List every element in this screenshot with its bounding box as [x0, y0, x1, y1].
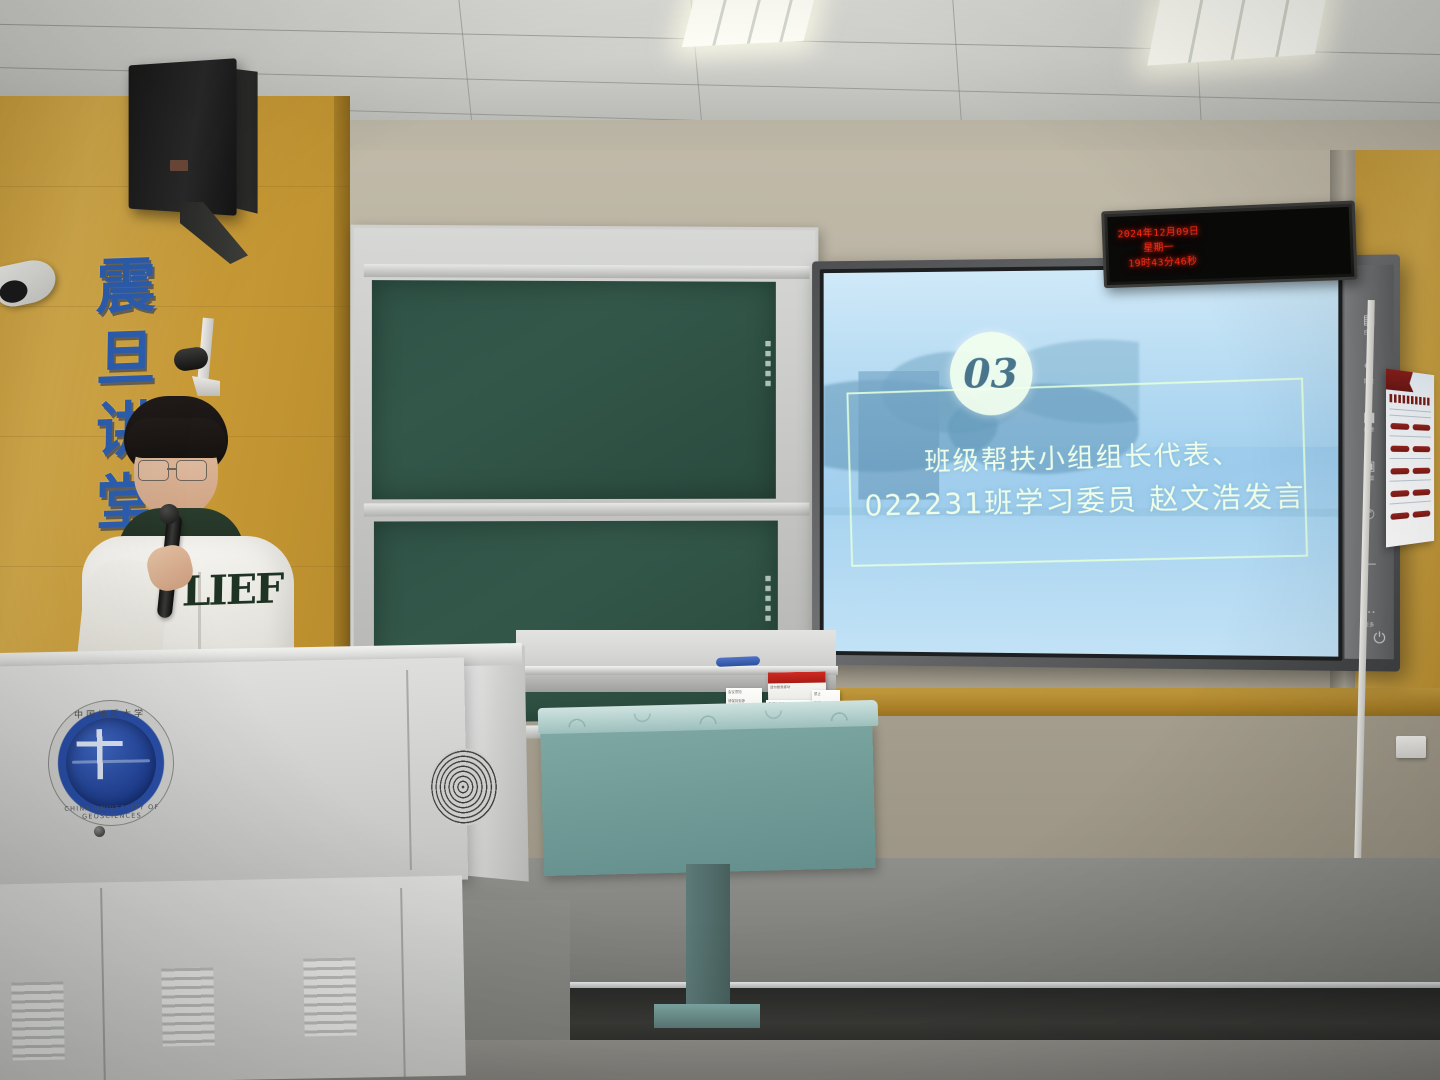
presentation-slide: 03 班级帮扶小组组长代表、 022231班学习委员 赵文浩发言: [824, 267, 1339, 656]
cabinet-vent: [161, 968, 214, 1047]
glasses-left-lens: [138, 460, 169, 481]
ceiling-light-panel: [682, 0, 818, 47]
wall-mounted-loudspeaker: [124, 62, 236, 212]
stand-front-panel: [540, 722, 875, 876]
stand-support-column: [686, 864, 730, 1014]
calligraphy-char-1: 震: [96, 257, 157, 317]
display-bezel: 03 班级帮扶小组组长代表、 022231班学习委员 赵文浩发言: [820, 263, 1343, 661]
led-date-time-display: 2024年12月09日 星期一 19时43分46秒: [1101, 200, 1357, 288]
blue-marker[interactable]: [716, 656, 760, 667]
wall-poster: [1386, 369, 1434, 548]
cabinet-vent: [303, 958, 356, 1037]
poster-title-band: [1390, 394, 1431, 406]
power-icon[interactable]: ⏻: [1373, 630, 1385, 647]
board-edge-marking: ■■■■■: [758, 339, 772, 389]
camera-base-mount: [192, 376, 220, 396]
tent-card-text: 会议须知: [726, 688, 762, 697]
slide-text-block: 班级帮扶小组组长代表、 022231班学习委员 赵文浩发言: [863, 433, 1308, 527]
wall-power-socket[interactable]: [1396, 736, 1426, 758]
logo-english-name: CHINA UNIVERSITY OF GEOSCIENCES: [50, 803, 174, 821]
university-logo: 中国地质大学 CHINA UNIVERSITY OF GEOSCIENCES: [47, 699, 175, 827]
poster-ribbon: [1386, 369, 1413, 393]
interactive-smart-display[interactable]: 03 班级帮扶小组组长代表、 022231班学习委员 赵文浩发言 ▤ 应用 ✎ …: [812, 254, 1400, 671]
logo-chinese-name: 中国地质大学: [48, 706, 172, 721]
logo-hammer-emblem: [76, 729, 123, 780]
speaker-brand-badge: [170, 160, 188, 171]
slide-line-2: 022231班学习委员 赵文浩发言: [864, 474, 1308, 528]
lectern-lock[interactable]: [94, 826, 105, 837]
stand-base: [654, 1004, 760, 1028]
teal-speaking-stand[interactable]: [538, 704, 878, 890]
cabinet-vent: [11, 982, 64, 1061]
presenter: LIEF: [76, 396, 332, 664]
lecture-hall-photo: 震 旦 讲 堂 ■■■■■ ■■■■■: [0, 0, 1440, 1080]
led-display-panel: 2024年12月09日 星期一 19时43分46秒: [1107, 207, 1351, 282]
tent-card-text: 禁止: [812, 690, 840, 699]
glasses-right-lens: [176, 460, 207, 481]
lectern-lower-cabinet[interactable]: [0, 876, 466, 1080]
board-edge-marking: ■■■■■: [758, 574, 772, 624]
speaker-front-grille: [129, 58, 237, 216]
bullet-security-camera: [176, 318, 224, 396]
glasses-bridge: [167, 468, 177, 470]
slide-section-number: 03: [949, 332, 1032, 416]
ceiling-light-panel: [1147, 0, 1328, 66]
chalkboard-surface-upper: [372, 280, 776, 499]
calligraphy-char-2: 旦: [96, 329, 157, 389]
presenter-hair-fringe: [126, 418, 226, 458]
sliding-green-chalkboard[interactable]: ■■■■■ ■■■■■: [351, 225, 819, 650]
